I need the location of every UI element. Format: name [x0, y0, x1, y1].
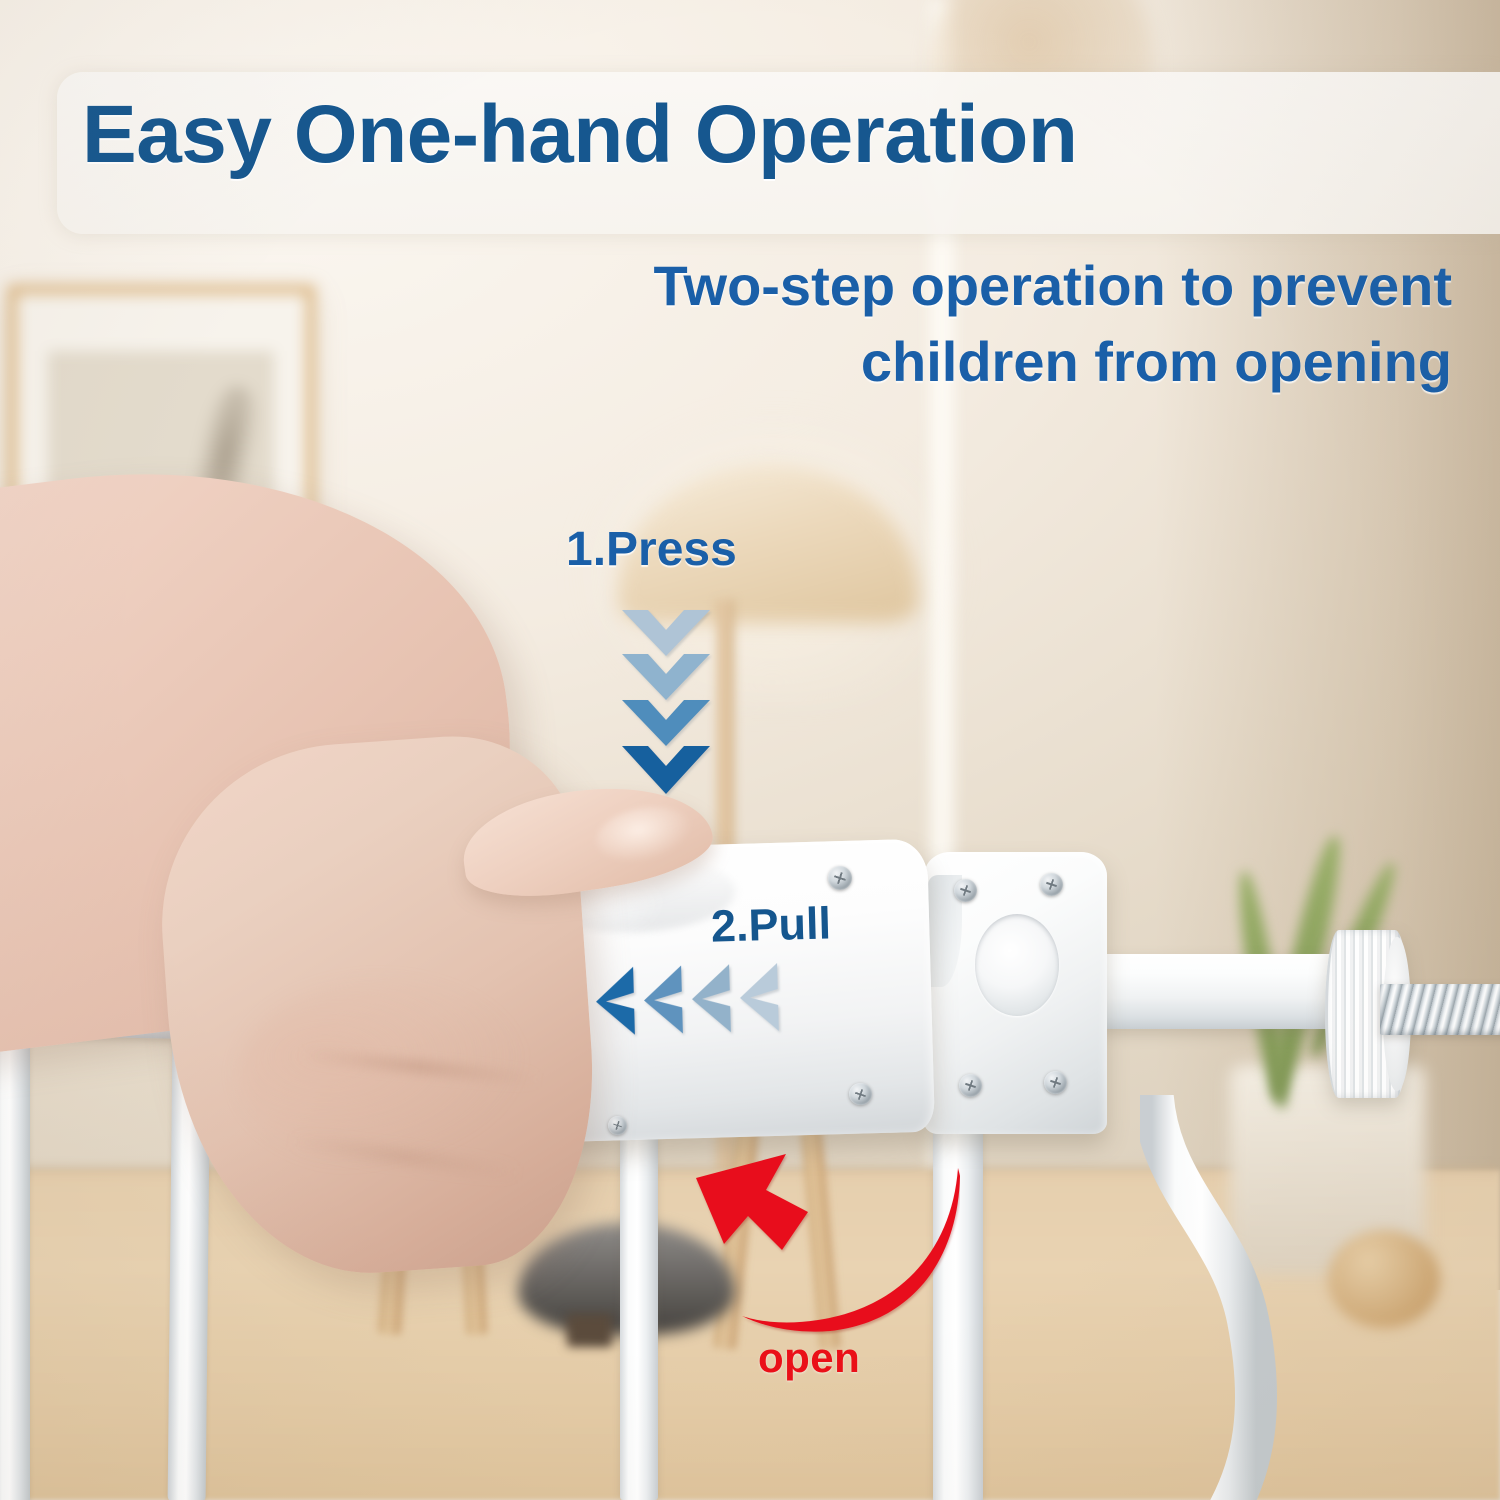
- gate-top-tube: [1098, 954, 1338, 1029]
- gate-vertical-post: [620, 1125, 659, 1500]
- hinge-bracket: [924, 852, 1107, 1134]
- curved-mount-tube: [1140, 1095, 1335, 1500]
- screw-icon: [849, 1083, 872, 1106]
- gate-bar: [0, 1028, 30, 1500]
- press-chevron-icon: [620, 608, 712, 798]
- screw-icon: [1040, 873, 1063, 896]
- page-title: Easy One-hand Operation: [82, 88, 1077, 182]
- open-label: open: [758, 1334, 860, 1382]
- screw-icon: [959, 1074, 982, 1097]
- subtitle-line-1: Two-step operation to prevent: [653, 248, 1452, 324]
- threaded-bolt: [1380, 984, 1500, 1035]
- pull-chevron-icon: [599, 960, 801, 1037]
- subtitle-line-2: children from opening: [653, 324, 1452, 400]
- hinge-boss: [975, 914, 1059, 1016]
- step-2-label: 2.Pull: [710, 897, 831, 952]
- page-subtitle: Two-step operation to prevent children f…: [653, 248, 1452, 400]
- step-1-label: 1.Press: [566, 522, 737, 577]
- screw-icon: [828, 866, 852, 890]
- product-infographic-poster: 2.Pull 1.Press: [0, 0, 1500, 1500]
